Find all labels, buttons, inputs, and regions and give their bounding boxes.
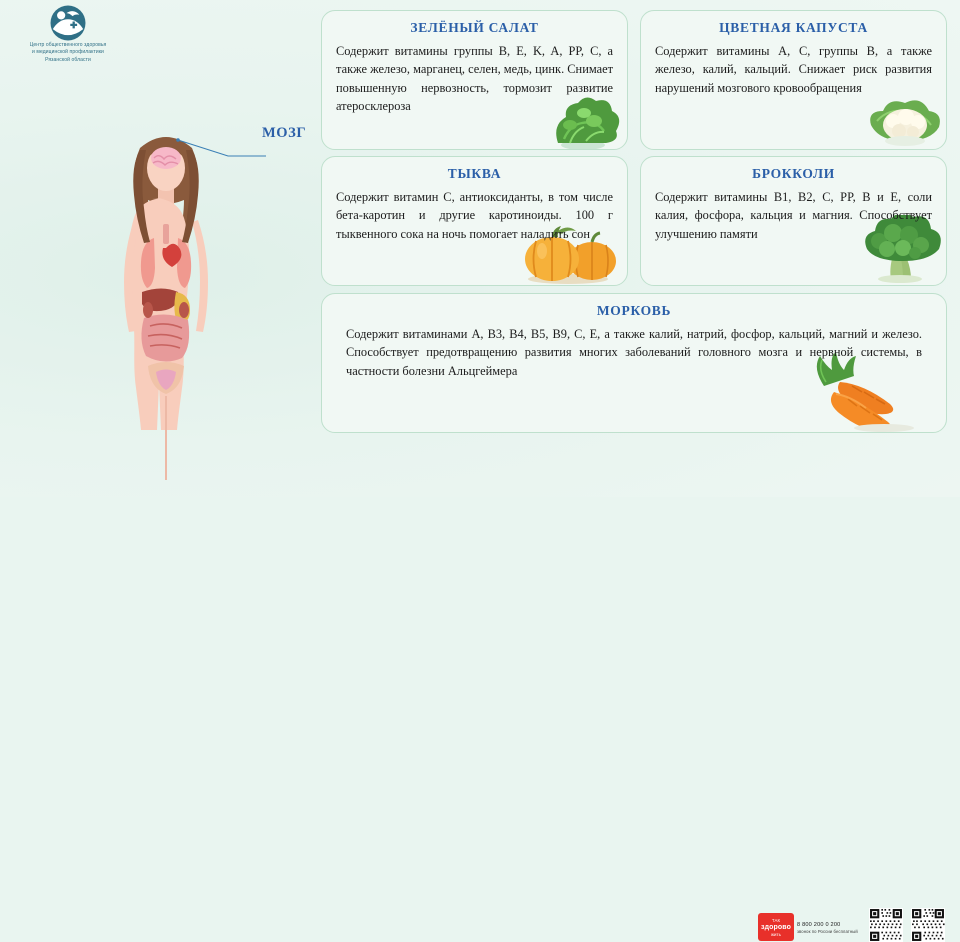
- card-body: Содержит витамины B1, B2, C, PP, B и E, …: [655, 188, 932, 243]
- badge-main-label: здорово: [758, 924, 794, 932]
- human-body-anatomy-illustration: [96, 120, 236, 480]
- health-center-logo-icon: [45, 4, 91, 42]
- organization-logo: Центр общественного здоровья и медицинск…: [8, 4, 128, 74]
- callout-leader-line-icon: [176, 138, 268, 160]
- badge-bottom-label: жить: [771, 932, 781, 937]
- callout-label-brain: МОЗГ: [262, 125, 306, 142]
- hotline-phone-note: звонок по России бесплатный: [797, 929, 858, 934]
- card-title: ЗЕЛЁНЫЙ САЛАТ: [332, 20, 617, 36]
- card-pumpkin: ТЫКВА Содержит витамин C, антиоксиданты,…: [321, 156, 628, 286]
- card-body: Содержит витаминами A, B3, B4, B5, B9, C…: [346, 325, 922, 380]
- card-body: Содержит витамины A, C, группы B, а такж…: [655, 42, 932, 97]
- badge-top-label: ТАК: [772, 918, 780, 923]
- card-green-salad: ЗЕЛЁНЫЙ САЛАТ Содержит витамины группы B…: [321, 10, 628, 150]
- qr-code-icon[interactable]: [911, 908, 945, 942]
- card-broccoli: БРОККОЛИ Содержит витамины B1, B2, C, PP…: [640, 156, 947, 286]
- takzdorovo-badge[interactable]: ТАК здорово жить: [758, 913, 794, 941]
- card-body: Содержит витамин C, антиоксиданты, в том…: [336, 188, 613, 243]
- logo-line-3: Рязанской области: [8, 57, 128, 64]
- cauliflower-icon: [863, 91, 947, 150]
- logo-line-2: и медицинской профилактики: [8, 49, 128, 56]
- qr-code-icon[interactable]: [869, 908, 903, 942]
- card-title: ТЫКВА: [332, 166, 617, 182]
- card-body: Содержит витамины группы B, E, K, A, PP,…: [336, 42, 613, 116]
- card-title: МОРКОВЬ: [332, 303, 936, 319]
- hotline-phone-number: 8 800 200 0 200: [797, 922, 840, 928]
- card-title: ЦВЕТНАЯ КАПУСТА: [651, 20, 936, 36]
- card-title: БРОККОЛИ: [651, 166, 936, 182]
- footer: ТАК здорово жить 8 800 200 0 200 звонок …: [0, 451, 960, 497]
- card-cauliflower: ЦВЕТНАЯ КАПУСТА Содержит витамины A, C, …: [640, 10, 947, 150]
- card-carrot: МОРКОВЬ Содержит витаминами A, B3, B4, B…: [321, 293, 947, 433]
